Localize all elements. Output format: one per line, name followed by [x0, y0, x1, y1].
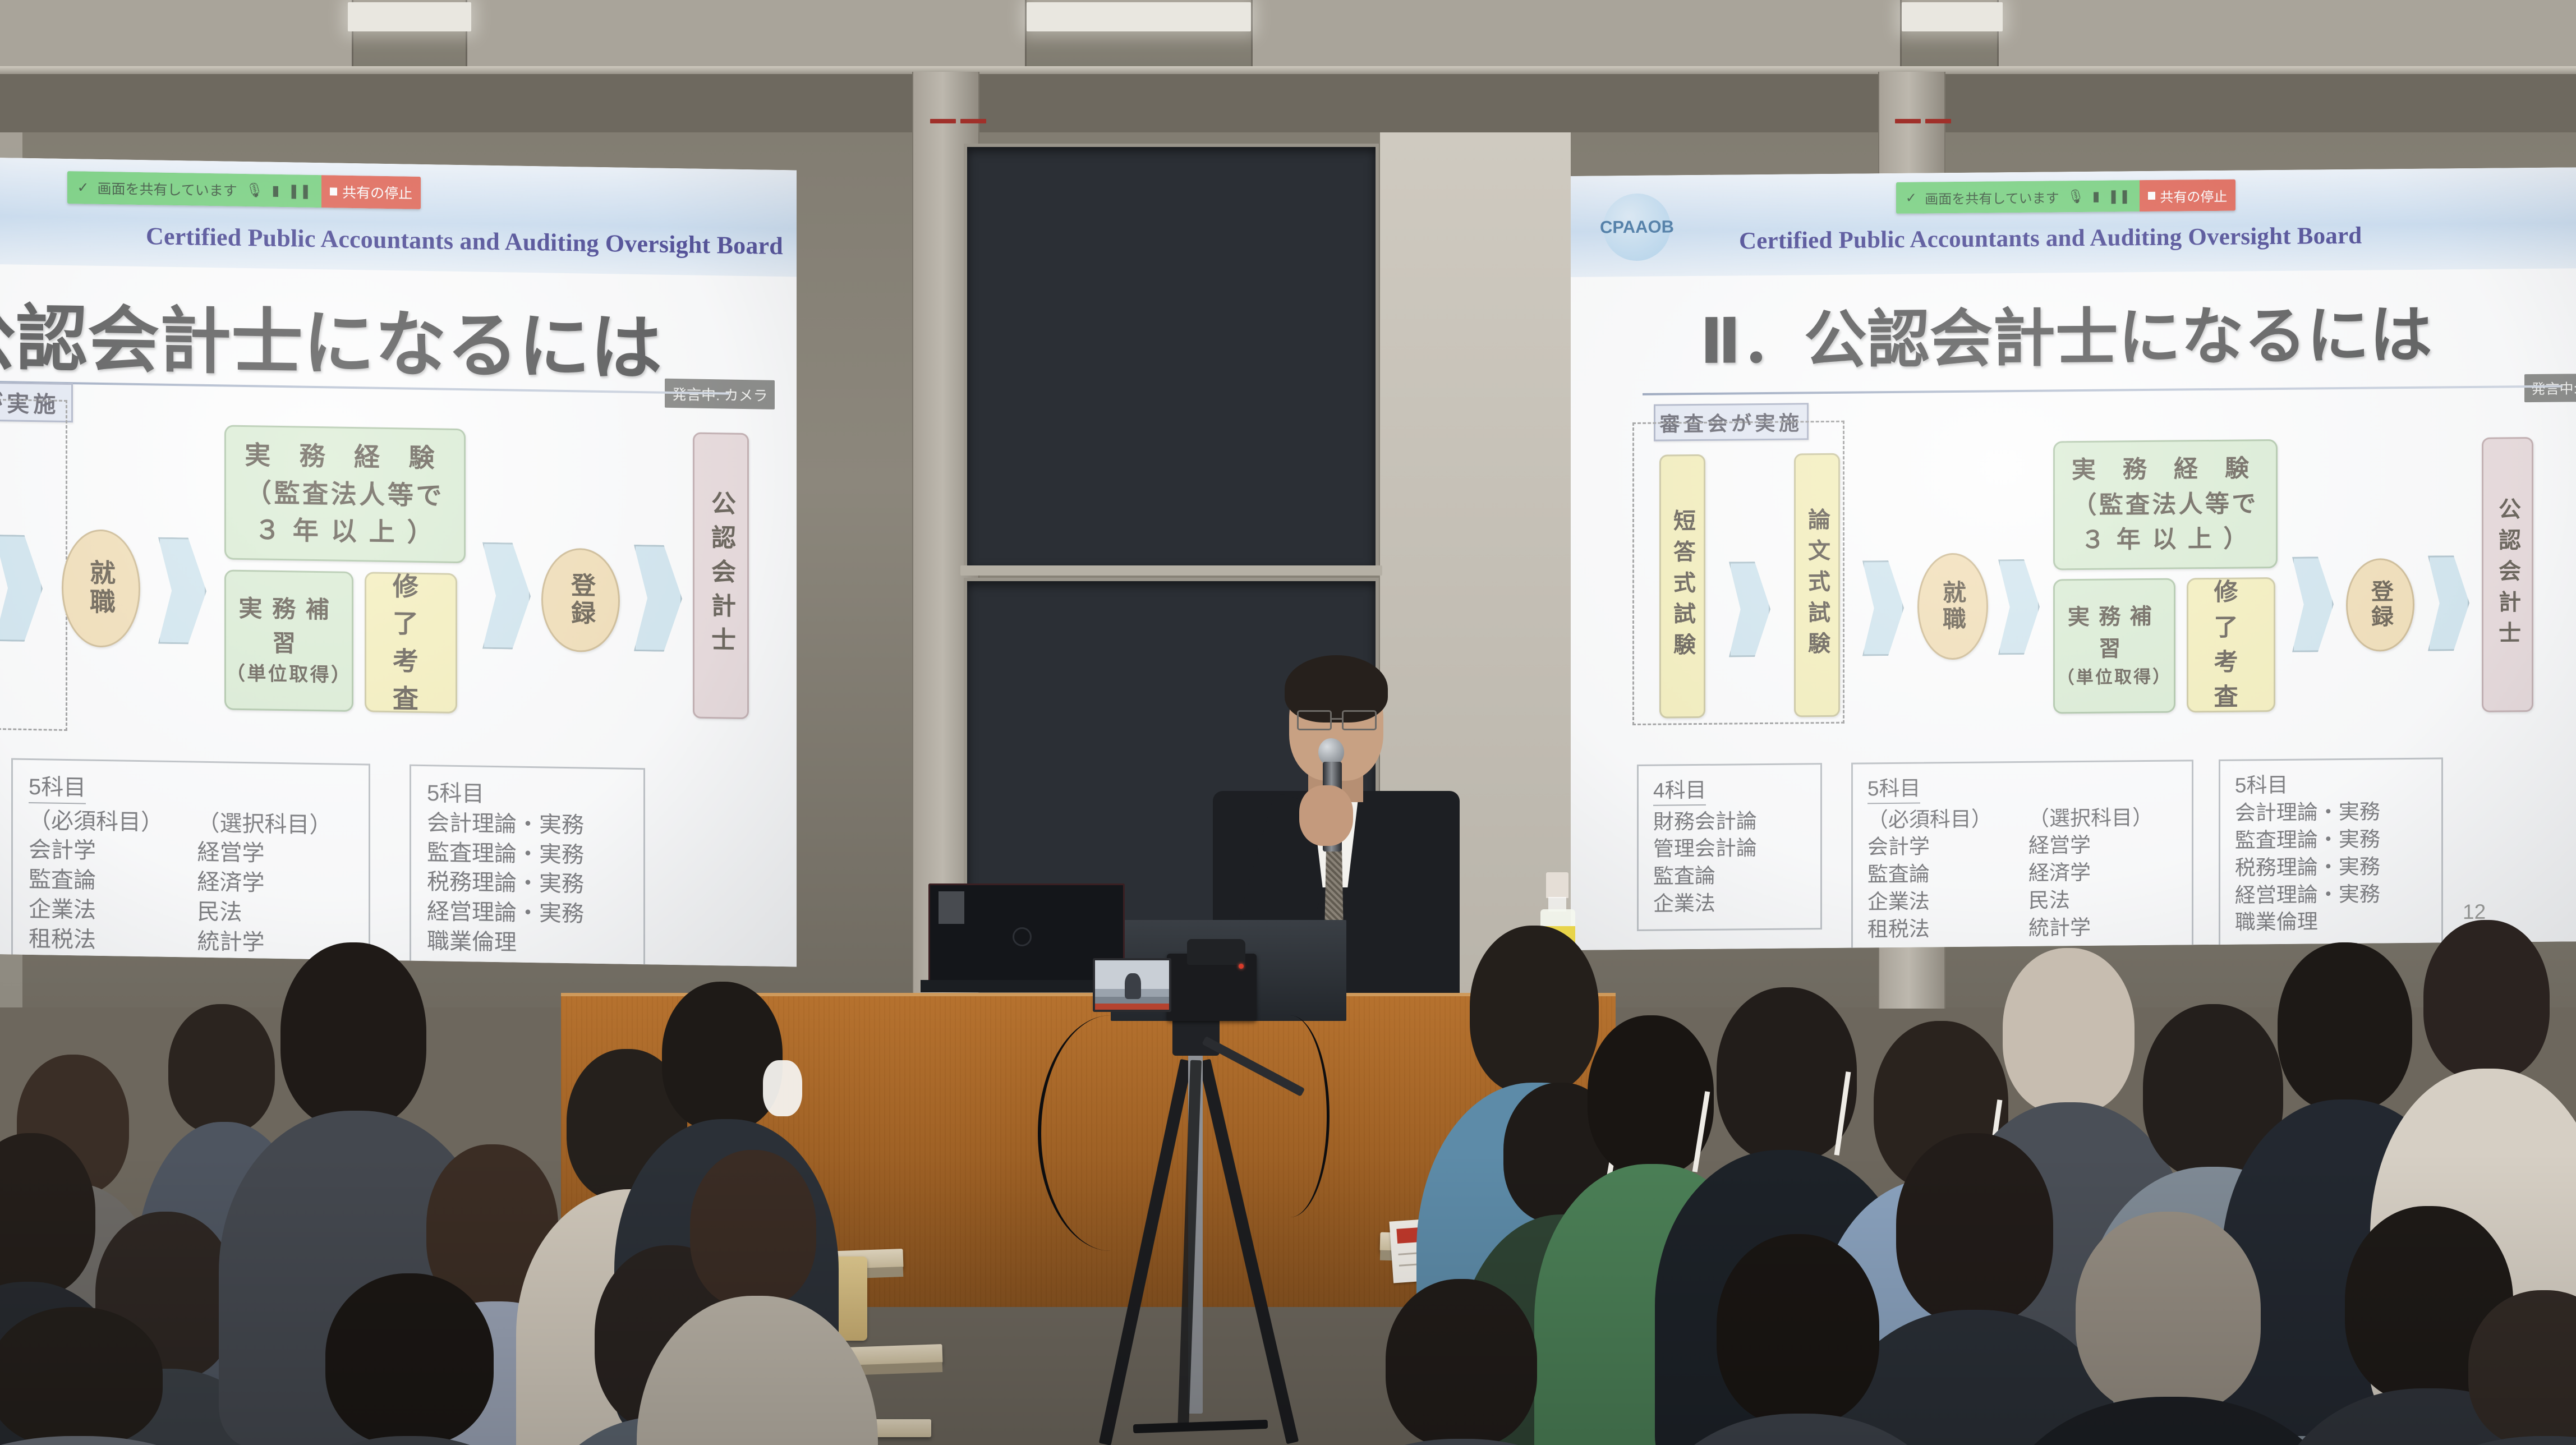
audience-head [662, 982, 783, 1130]
pause-icon[interactable]: ❚❚ [288, 182, 311, 200]
jitsumu-hoshu-box-right: 実務補習 （単位取得） [2053, 578, 2175, 714]
chevron-to-jitsumu-right [1998, 559, 2040, 655]
jitsumu-keiken-line1-r: 実 務 経 験 [2072, 452, 2259, 488]
tantou-item-2: 監査論 [1653, 862, 1806, 891]
ceiling-panel-right [1251, 0, 1902, 72]
slide-right: CPAAOB Certified Public Accountants and … [1571, 167, 2576, 950]
shuryo-item-3-r: 経営理論・実務 [2235, 880, 2427, 909]
chevron-to-jitsumu-left [158, 537, 206, 645]
lcd-preview-image [1095, 960, 1169, 1010]
tantou-exam-box-right: 短答式試験 [1659, 454, 1705, 719]
jitsumu-keiken-line2-r: （監査法人等で [2072, 486, 2258, 523]
camera-cable-right [1251, 1015, 1330, 1217]
shuryo-kosa-box-left: 修 了 考 査 [365, 572, 457, 714]
shuryo-item-2: 税務理論・実務 [427, 868, 628, 900]
zoom-share-label-right: 画面を共有しています [1925, 187, 2059, 208]
ronbun-required-item-0: 会計学 [29, 835, 197, 868]
audience-head [1896, 1133, 2053, 1324]
ronbun-required-item-3: 租税法 [29, 924, 197, 957]
cpa-result-box-left: 公認会計士 [693, 432, 749, 720]
ronbun-elective-header-r: （選択科目） [2028, 804, 2153, 833]
zoom-share-bar-left[interactable]: ✓ 画面を共有しています 🎙 ▮ ❚❚ 共有の停止 [67, 171, 421, 209]
ronbun-required-item-2: 企業法 [29, 895, 197, 927]
audience-head [2076, 1212, 2261, 1414]
jitsumu-hoshu-line2: （単位取得） [226, 660, 352, 690]
tantou-subjects-box-right: 4科目 財務会計論 管理会計論 監査論 企業法 [1637, 763, 1822, 931]
ronbun-elective-header: （選択科目） [197, 808, 332, 840]
shuryo-line2: 考 査 [366, 642, 456, 718]
slide-org-line-right: Certified Public Accountants and Auditin… [1739, 222, 2362, 255]
jitsumu-hoshu-line2-r: （単位取得） [2057, 665, 2172, 691]
chevron-to-cpa-right [2428, 555, 2469, 651]
stop-icon [2148, 192, 2155, 199]
cpaaob-logo-text: CPAAOB [1600, 217, 1674, 237]
shuryo-kosa-box-right: 修 了 考 査 [2187, 577, 2275, 712]
ronbun-elective-column-r: （選択科目） 経営学 経済学 民法 統計学 [2028, 804, 2153, 942]
stop-icon [330, 188, 338, 196]
ronbun-required-item-2-r: 企業法 [1867, 887, 2028, 916]
shuryo-item-2-r: 税務理論・実務 [2235, 853, 2427, 882]
pillar-led-right [1895, 119, 1921, 123]
shuryo-item-4: 職業倫理 [427, 927, 628, 959]
audience-head [1717, 987, 1857, 1161]
camcorder-viewfinder-hood [1187, 939, 1245, 965]
toroku-oval-left: 登録 [541, 547, 620, 652]
shuryo-item-3: 経営理論・実務 [427, 897, 628, 929]
shuryo-item-4-r: 職業倫理 [2235, 908, 2427, 937]
projection-screen-left: Certified Public Accountants and Auditin… [0, 158, 797, 967]
ceiling-panel-mid [466, 0, 1027, 72]
shuryo-item-0-r: 会計理論・実務 [2235, 798, 2427, 827]
shuryo-item-1: 監査理論・実務 [427, 838, 628, 871]
video-camera-icon[interactable]: ▮ [272, 182, 279, 199]
ceiling-panel-left [0, 0, 353, 72]
ronbun-required-item-1-r: 監査論 [1867, 860, 2028, 889]
shuryo-line2-r: 考 査 [2188, 645, 2274, 715]
shuryo-line1: 修 了 [366, 567, 456, 643]
ronbun-required-header: （必須科目） [29, 806, 197, 839]
ronbun-elective-item-0: 経営学 [197, 838, 332, 870]
ronbun-required-header-r: （必須科目） [1867, 805, 2028, 834]
ceiling-panel-far [1997, 0, 2576, 72]
ronbun-elective-item-3-r: 統計学 [2028, 914, 2153, 942]
lecture-hall-scene: Certified Public Accountants and Auditin… [0, 0, 2576, 1445]
audience-head [2423, 920, 2550, 1080]
microphone-icon[interactable]: 🎙 [2067, 188, 2084, 204]
chevron-to-toroku-left [482, 542, 531, 650]
chevron-to-shushoku-right [1862, 560, 1904, 656]
stop-share-label: 共有の停止 [342, 182, 412, 203]
ronbun-elective-item-2: 民法 [197, 898, 332, 929]
audience-head [168, 1004, 275, 1133]
shuryo-item-0: 会計理論・実務 [427, 808, 628, 841]
audience-head [1470, 926, 1599, 1094]
lcd-preview-podium [1095, 1004, 1169, 1010]
audience-head [1717, 1234, 1879, 1425]
tantou-item-0: 財務会計論 [1653, 807, 1806, 836]
shuryo-subjects-heading: 5科目 [427, 779, 628, 811]
jitsumu-keiken-line1: 実 務 経 験 [245, 436, 445, 477]
speaker-hand [1299, 785, 1353, 846]
laptop-brand-logo [1013, 927, 1032, 946]
cpaaob-logo: CPAAOB [1603, 193, 1671, 261]
tantou-item-1: 管理会計論 [1653, 835, 1806, 863]
camera-cable [1038, 1015, 1184, 1251]
ceiling-light-1 [348, 2, 471, 31]
tantou-subjects-heading: 4科目 [1653, 777, 1706, 806]
jitsumu-keiken-line3-r: ３ 年 以 上 ） [2081, 522, 2250, 558]
ronbun-required-item-3-r: 租税法 [1867, 915, 2028, 944]
chevron-to-cpa-left [634, 545, 682, 652]
ronbun-elective-item-2-r: 民法 [2028, 886, 2153, 915]
glasses-icon [1297, 710, 1332, 730]
ronbun-elective-item-3: 統計学 [197, 927, 332, 959]
tripod-spreader [1133, 1420, 1268, 1433]
ronbun-subjects-heading-r: 5科目 [1867, 775, 1921, 804]
ronbun-subjects-box-left: 5科目 （必須科目） 会計学 監査論 企業法 租税法 （選択科目） 経営学 経済… [11, 758, 370, 967]
ronbun-elective-item-1-r: 経済学 [2028, 859, 2153, 887]
ronbun-required-column-r: （必須科目） 会計学 監査論 企業法 租税法 [1867, 805, 2028, 944]
stop-share-label-right: 共有の停止 [2160, 185, 2227, 205]
pillar-led-left [930, 119, 956, 123]
jitsumu-hoshu-line1-r: 実務補習 [2055, 601, 2174, 666]
check-icon: ✓ [1906, 190, 1917, 206]
speaking-badge-right: 発言中: カメラ [2524, 374, 2576, 403]
ronbun-exam-box-right: 論文式試験 [1794, 453, 1840, 717]
jitsumu-hoshu-box-left: 実務補習 （単位取得） [224, 569, 353, 712]
camcorder-lcd-screen [1093, 958, 1171, 1012]
shuryo-subjects-box-left: 5科目 会計理論・実務 監査理論・実務 税務理論・実務 経営理論・実務 職業倫理 [410, 765, 645, 967]
cpa-result-box-right: 公認会計士 [2482, 437, 2533, 712]
shuryo-subjects-box-right: 5科目 会計理論・実務 監査理論・実務 税務理論・実務 経営理論・実務 職業倫理 [2219, 757, 2443, 950]
page-title-left: 公認会計士になるには [0, 279, 662, 394]
audience-head [325, 1273, 494, 1445]
face-mask [763, 1060, 802, 1116]
pause-icon[interactable]: ❚❚ [2108, 188, 2130, 204]
shushoku-oval-left: 就職 [62, 529, 140, 648]
microphone-icon[interactable]: 🎙 [246, 182, 264, 199]
audience-head [1386, 1279, 1537, 1445]
glasses-icon-right [1342, 710, 1377, 730]
zoom-share-bar-right[interactable]: ✓ 画面を共有しています 🎙 ▮ ❚❚ 共有の停止 [1896, 180, 2235, 214]
zoom-share-status: ✓ 画面を共有しています 🎙 ▮ ❚❚ [67, 171, 321, 208]
check-icon: ✓ [77, 179, 89, 196]
audience-head [0, 1307, 163, 1445]
ronbun-elective-column: （選択科目） 経営学 経済学 民法 統計学 [197, 808, 332, 959]
ceiling-light-2 [1027, 2, 1251, 31]
blackboard [964, 144, 1379, 570]
audience-head [1588, 1015, 1714, 1175]
recording-dot [1239, 964, 1244, 969]
zoom-share-label: 画面を共有しています [97, 178, 237, 200]
ronbun-required-item-0-r: 会計学 [1867, 832, 2028, 861]
chevron-to-toroku-right [2292, 556, 2334, 652]
audience-head [2003, 948, 2135, 1113]
shuryo-subjects-heading-r: 5科目 [2235, 771, 2427, 800]
pillar-led-left2 [960, 119, 986, 123]
slide-left: Certified Public Accountants and Auditin… [0, 158, 797, 967]
soffit-lip [0, 66, 2576, 74]
laptop-sticker [939, 891, 964, 924]
ronbun-required-item-1: 監査論 [29, 865, 197, 898]
ceiling-soffit [0, 72, 2576, 132]
audience-head [690, 1150, 816, 1307]
toroku-oval-right: 登録 [2346, 558, 2414, 652]
ronbun-elective-item-0-r: 経営学 [2028, 831, 2153, 860]
jitsumu-keiken-line3: ３ 年 以 上 ） [255, 512, 436, 552]
tantou-item-3: 企業法 [1653, 889, 1806, 918]
shushoku-oval-right: 就職 [1917, 553, 1988, 660]
shuryo-item-1-r: 監査理論・実務 [2235, 826, 2427, 855]
ronbun-subjects-heading: 5科目 [29, 772, 86, 804]
tripod-icon [1066, 875, 1402, 1445]
stop-share-button[interactable]: 共有の停止 [321, 175, 421, 209]
ronbun-elective-item-1: 経済学 [197, 868, 332, 900]
stop-share-button-right[interactable]: 共有の停止 [2140, 180, 2235, 211]
zoom-share-status-right: ✓ 画面を共有しています 🎙 ▮ ❚❚ [1896, 180, 2140, 214]
audience-head [280, 942, 426, 1128]
shuryo-line1-r: 修 了 [2188, 574, 2274, 645]
ronbun-required-column: （必須科目） 会計学 監査論 企業法 租税法 [29, 806, 197, 957]
pillar-led-right2 [1925, 119, 1951, 123]
jitsumu-keiken-box-left: 実 務 経 験 （監査法人等で ３ 年 以 上 ） [224, 425, 466, 563]
jitsumu-keiken-line2: （監査法人等で [246, 474, 444, 514]
lcd-preview-speaker [1125, 973, 1141, 999]
glasses-bridge [1332, 718, 1342, 720]
title-rule-right [1643, 385, 2563, 395]
green-tea-cap [1546, 872, 1568, 898]
projection-screen-right: CPAAOB Certified Public Accountants and … [1571, 167, 2576, 950]
page-title-right: Ⅱ．公認会計士になるには [1700, 284, 2432, 381]
chalk-tray [960, 565, 1382, 576]
ronbun-subjects-box-right: 5科目 （必須科目） 会計学 監査論 企業法 租税法 （選択科目） 経営学 経済… [1851, 760, 2193, 950]
ceiling-light-3 [1902, 2, 2003, 31]
audience-head [2278, 942, 2412, 1111]
jitsumu-keiken-box-right: 実 務 経 験 （監査法人等で ３ 年 以 上 ） [2053, 439, 2278, 570]
jitsumu-hoshu-line1: 実務補習 [226, 592, 352, 662]
video-camera-icon[interactable]: ▮ [2092, 188, 2100, 204]
